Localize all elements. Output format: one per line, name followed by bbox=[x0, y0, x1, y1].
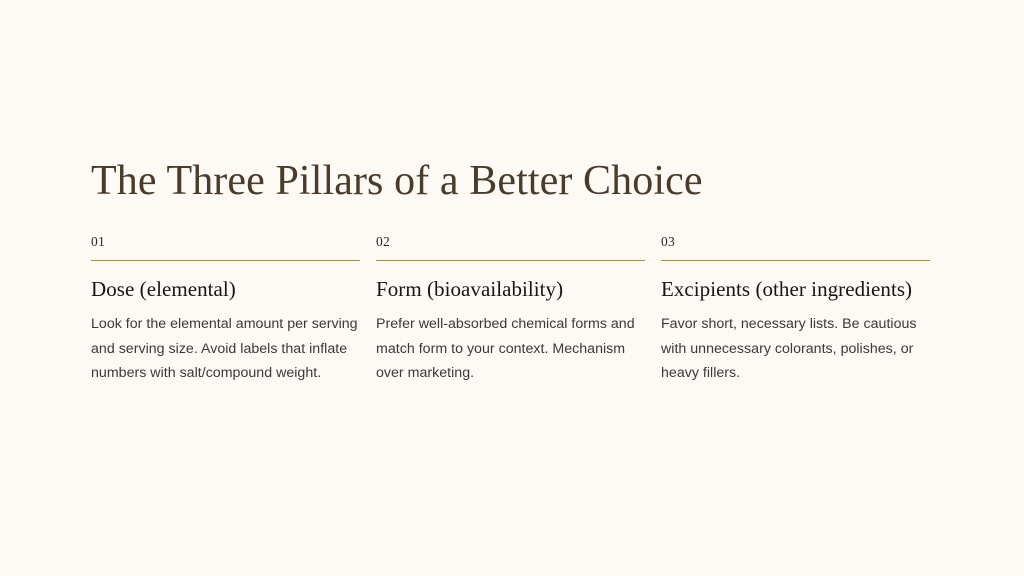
pillar-column-03: 03 Excipients (other ingredients) Favor … bbox=[661, 233, 930, 386]
pillar-column-02: 02 Form (bioavailability) Prefer well-ab… bbox=[376, 233, 645, 386]
pillar-body-text: Favor short, necessary lists. Be cautiou… bbox=[661, 303, 930, 386]
pillar-index-label: 01 bbox=[91, 233, 360, 251]
pillar-body-text: Prefer well-absorbed chemical forms and … bbox=[376, 303, 645, 386]
pillars-columns: 01 Dose (elemental) Look for the element… bbox=[91, 233, 930, 386]
slide-canvas: The Three Pillars of a Better Choice 01 … bbox=[0, 0, 1024, 576]
page-title: The Three Pillars of a Better Choice bbox=[91, 155, 951, 207]
pillar-heading: Dose (elemental) bbox=[91, 261, 360, 303]
pillar-column-01: 01 Dose (elemental) Look for the element… bbox=[91, 233, 360, 386]
pillar-heading: Form (bioavailability) bbox=[376, 261, 645, 303]
pillar-body-text: Look for the elemental amount per servin… bbox=[91, 303, 360, 386]
pillar-heading: Excipients (other ingredients) bbox=[661, 261, 930, 303]
pillar-index-label: 03 bbox=[661, 233, 930, 251]
pillar-index-label: 02 bbox=[376, 233, 645, 251]
